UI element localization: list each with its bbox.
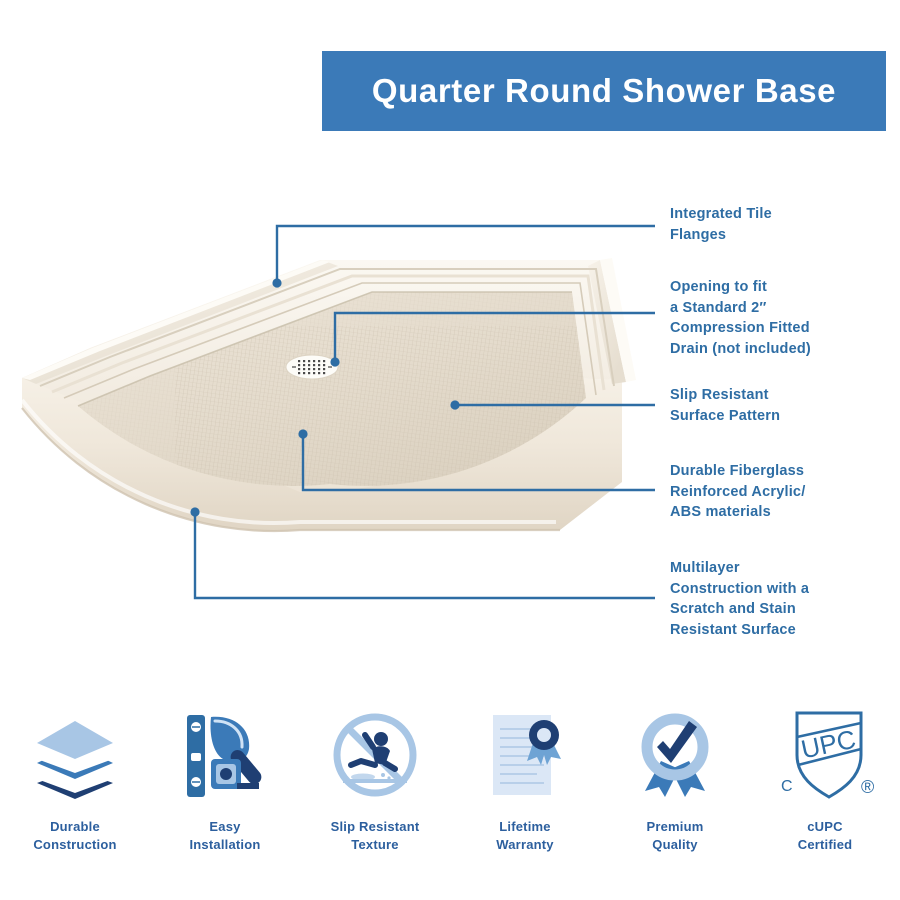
feature-premium-quality: Premium Quality	[605, 700, 745, 853]
product-illustration	[0, 230, 660, 560]
certificate-icon	[477, 700, 573, 810]
upc-shield-icon: UPC C ®	[773, 700, 877, 810]
upc-shield-text: UPC	[798, 724, 858, 765]
callout-fiberglass-acrylic-abs: Durable Fiberglass Reinforced Acrylic/ A…	[670, 461, 805, 523]
feature-label: Lifetime Warranty	[496, 818, 553, 853]
registered-mark: ®	[861, 777, 874, 797]
feature-label: Easy Installation	[189, 818, 260, 853]
feature-lifetime-warranty: Lifetime Warranty	[455, 700, 595, 853]
callout-multilayer-construction: Multilayer Construction with a Scratch a…	[670, 558, 809, 640]
feature-strip: Durable Construction	[0, 700, 900, 870]
feature-cupc-certified: UPC C ® cUPC Certified	[755, 700, 895, 853]
callout-slip-resistant-surface: Slip Resistant Surface Pattern	[670, 385, 780, 426]
feature-durable-construction: Durable Construction	[5, 700, 145, 853]
feature-label: Durable Construction	[33, 818, 116, 853]
feature-label: Premium Quality	[646, 818, 703, 853]
feature-label: Slip Resistant Texture	[331, 818, 420, 853]
level-trowel-icon	[177, 700, 273, 810]
callout-drain-opening: Opening to fit a Standard 2″ Compression…	[670, 277, 811, 359]
feature-label: cUPC Certified	[798, 818, 853, 853]
drain-opening	[286, 355, 338, 379]
callout-integrated-tile-flanges: Integrated Tile Flanges	[670, 204, 772, 245]
feature-slip-resistant-texture: Slip Resistant Texture	[305, 700, 445, 853]
layers-icon	[27, 700, 123, 810]
feature-easy-installation: Easy Installation	[155, 700, 295, 853]
check-rosette-icon	[627, 700, 723, 810]
cupc-prefix-c: C	[781, 778, 793, 795]
title-banner: Quarter Round Shower Base	[322, 51, 886, 131]
no-slip-icon	[327, 700, 423, 810]
page-title: Quarter Round Shower Base	[372, 72, 836, 110]
